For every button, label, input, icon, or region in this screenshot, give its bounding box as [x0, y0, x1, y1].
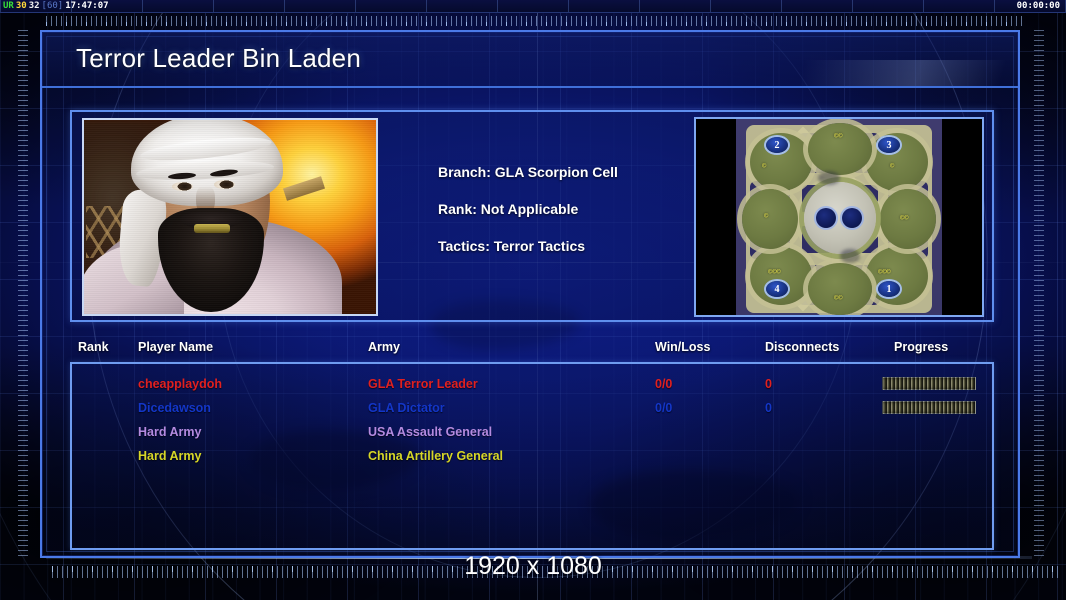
minimap-scorch: [840, 249, 860, 263]
column-header-army: Army: [368, 340, 400, 354]
eye-left: [172, 182, 193, 191]
minimap-lake-right: [842, 208, 862, 228]
minimap-units: ©©©: [878, 269, 891, 275]
eye-right: [214, 180, 235, 189]
performance-stats: UR3032[60]17:47:07: [2, 0, 110, 13]
cell-player-name: cheapplaydoh: [138, 372, 222, 396]
ruler-top: [46, 16, 1024, 26]
mouth: [194, 224, 230, 233]
ruler-left: [18, 30, 28, 560]
info-branch: Branch: GLA Scorpion Cell: [438, 164, 738, 180]
minimap-units: ©©: [900, 215, 908, 221]
main-frame: Terror Leader Bin Laden: [40, 30, 1020, 558]
cell-army: GLA Terror Leader: [368, 372, 478, 396]
debug-status-bar: UR3032[60]17:47:07 00:00:00: [0, 0, 1066, 13]
cell-player-name: Hard Army: [138, 444, 201, 468]
column-header-disconnects: Disconnects: [765, 340, 839, 354]
leader-portrait: [82, 118, 378, 316]
title-bar: Terror Leader Bin Laden: [42, 32, 1018, 88]
table-row[interactable]: cheapplaydoh GLA Terror Leader 0/0 0: [72, 372, 992, 396]
cell-disconnects: 0: [765, 372, 772, 396]
minimap-field: ©© © ©©© © ©© ©© © ©© ©©© ©©© 2 3 4 1: [736, 119, 942, 317]
mission-clock: 00:00:00: [1017, 0, 1060, 13]
leader-info-block: Branch: GLA Scorpion Cell Rank: Not Appl…: [438, 164, 738, 275]
minimap-start-position-4: 4: [766, 281, 788, 297]
minimap-units: ©: [764, 213, 768, 219]
cell-army: China Artillery General: [368, 444, 503, 468]
minimap-letterbox-left: [696, 119, 736, 315]
cell-player-name: Hard Army: [138, 420, 201, 444]
status-bar-cells: [0, 0, 1066, 12]
cell-army: GLA Dictator: [368, 396, 445, 420]
cell-disconnects: 0: [765, 396, 772, 420]
minimap-expansion-west: [742, 189, 798, 249]
info-tactics: Tactics: Terror Tactics: [438, 238, 738, 254]
minimap-units: ©: [762, 163, 766, 169]
minimap-units: ©©: [834, 295, 842, 301]
cell-player-name: Dicedawson: [138, 396, 211, 420]
minimap-center-island: [804, 182, 876, 254]
table-row[interactable]: Dicedawson GLA Dictator 0/0 0: [72, 396, 992, 420]
cell-army: USA Assault General: [368, 420, 492, 444]
minimap-expansion-south: [808, 263, 872, 315]
fps-label: UR: [2, 1, 15, 11]
ruler-right: [1034, 30, 1044, 558]
session-timer: 17:47:07: [64, 1, 109, 11]
stat-value-b: 32: [28, 1, 41, 11]
minimap-start-position-3: 3: [878, 137, 900, 153]
progress-bar: [882, 401, 976, 414]
table-row[interactable]: Hard Army USA Assault General: [72, 420, 992, 444]
column-header-progress: Progress: [894, 340, 948, 354]
stat-value-a: 30: [15, 1, 28, 11]
minimap-letterbox-right: [942, 119, 982, 315]
player-table: cheapplaydoh GLA Terror Leader 0/0 0 Dic…: [70, 362, 994, 550]
column-header-win-loss: Win/Loss: [655, 340, 710, 354]
table-row[interactable]: Hard Army China Artillery General: [72, 444, 992, 468]
minimap-start-position-2: 2: [766, 137, 788, 153]
minimap-start-position-1: 1: [878, 281, 900, 297]
minimap-units: ©: [890, 163, 894, 169]
column-header-player-name: Player Name: [138, 340, 213, 354]
minimap: ©© © ©©© © ©© ©© © ©© ©©© ©©© 2 3 4 1: [694, 117, 984, 317]
minimap-expansion-north: [808, 123, 872, 175]
game-loading-screen: UR3032[60]17:47:07 00:00:00 Terror Leade…: [0, 0, 1066, 600]
minimap-units: ©©: [834, 133, 842, 139]
minimap-lake-left: [816, 208, 836, 228]
minimap-base-1: [866, 247, 928, 305]
minimap-units: ©©©: [768, 269, 781, 275]
minimap-scorch: [818, 171, 840, 185]
cell-win-loss: 0/0: [655, 372, 672, 396]
page-title: Terror Leader Bin Laden: [76, 43, 361, 74]
resolution-caption: 1920 x 1080: [0, 552, 1066, 581]
stat-value-c: [60]: [41, 1, 65, 11]
progress-bar: [882, 377, 976, 390]
cell-win-loss: 0/0: [655, 396, 672, 420]
player-table-header: Rank Player Name Army Win/Loss Disconnec…: [70, 340, 994, 362]
title-sheen: [658, 60, 1018, 86]
info-rank: Rank: Not Applicable: [438, 201, 738, 217]
column-header-rank: Rank: [78, 340, 109, 354]
briefing-panel: Branch: GLA Scorpion Cell Rank: Not Appl…: [70, 110, 994, 322]
